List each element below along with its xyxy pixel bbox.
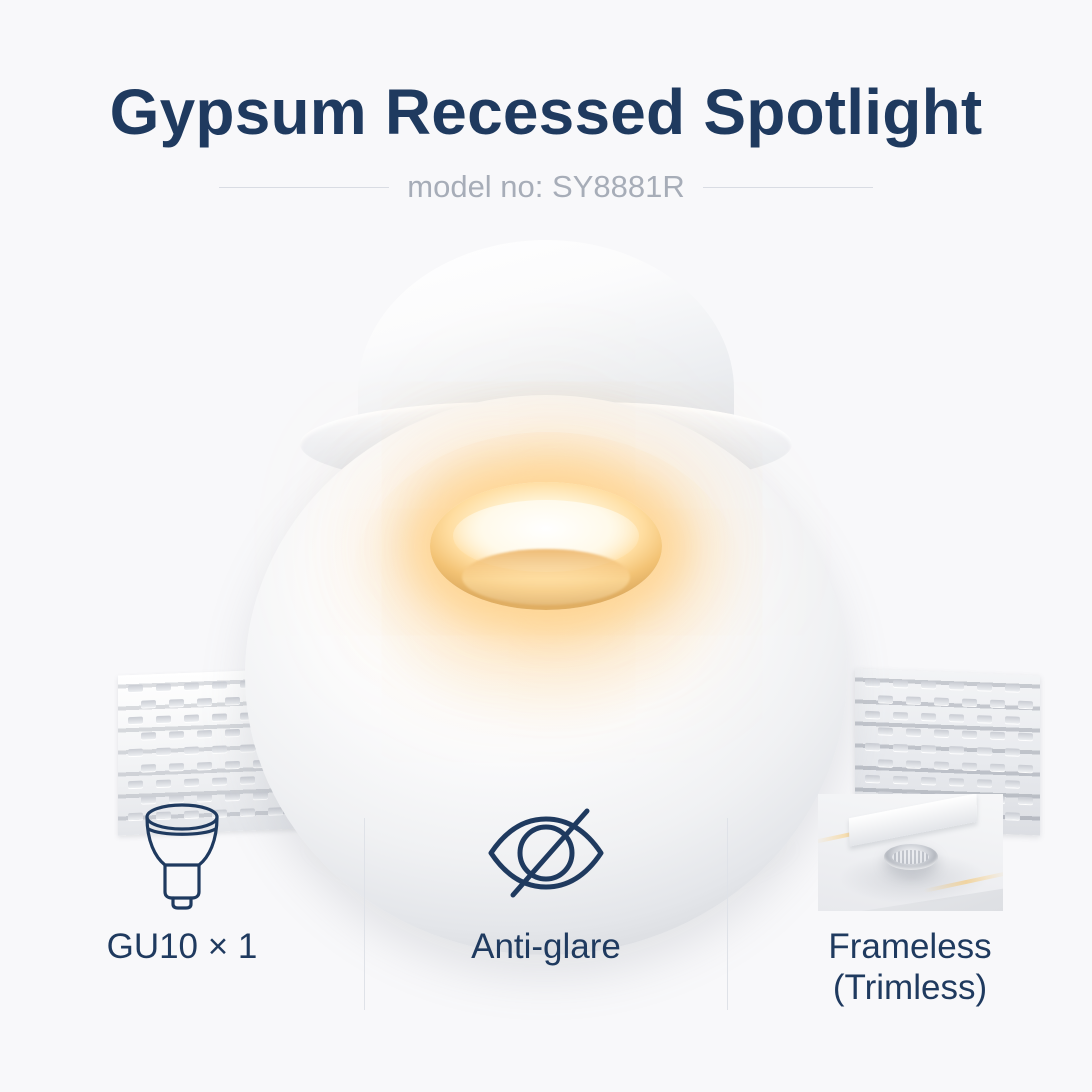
feature-item-lamp-type: GU10 × 1: [0, 790, 364, 1060]
divider-line-left: [219, 187, 389, 188]
anti-glare-eye-icon: [477, 790, 615, 915]
feature-label-frameless-line2: (Trimless): [828, 968, 991, 1009]
feature-row: GU10 × 1 Anti-glare: [0, 790, 1092, 1060]
model-subtitle-row: model no: SY8881R: [0, 169, 1092, 205]
page-title: Gypsum Recessed Spotlight: [0, 0, 1092, 147]
feature-item-anti-glare: Anti-glare: [364, 790, 728, 1060]
feature-label-lamp-type: GU10 × 1: [107, 927, 258, 968]
product-hero-image: [0, 232, 1092, 772]
trimless-ceiling-photo: [818, 790, 1003, 915]
gu10-bulb-icon: [124, 790, 240, 915]
product-banner: Gypsum Recessed Spotlight model no: SY88…: [0, 0, 1092, 1092]
illuminated-lamp-aperture: [430, 482, 662, 610]
feature-item-frameless: Frameless (Trimless): [728, 790, 1092, 1060]
recessed-spot-aperture: [884, 844, 938, 870]
feature-label-frameless: Frameless (Trimless): [828, 927, 991, 1008]
trimless-thumbnail: [818, 794, 1003, 911]
feature-label-anti-glare: Anti-glare: [471, 927, 621, 968]
feature-label-frameless-line1: Frameless: [828, 927, 991, 968]
banner-header: Gypsum Recessed Spotlight model no: SY88…: [0, 0, 1092, 205]
model-number: model no: SY8881R: [407, 169, 684, 205]
divider-line-right: [703, 187, 873, 188]
